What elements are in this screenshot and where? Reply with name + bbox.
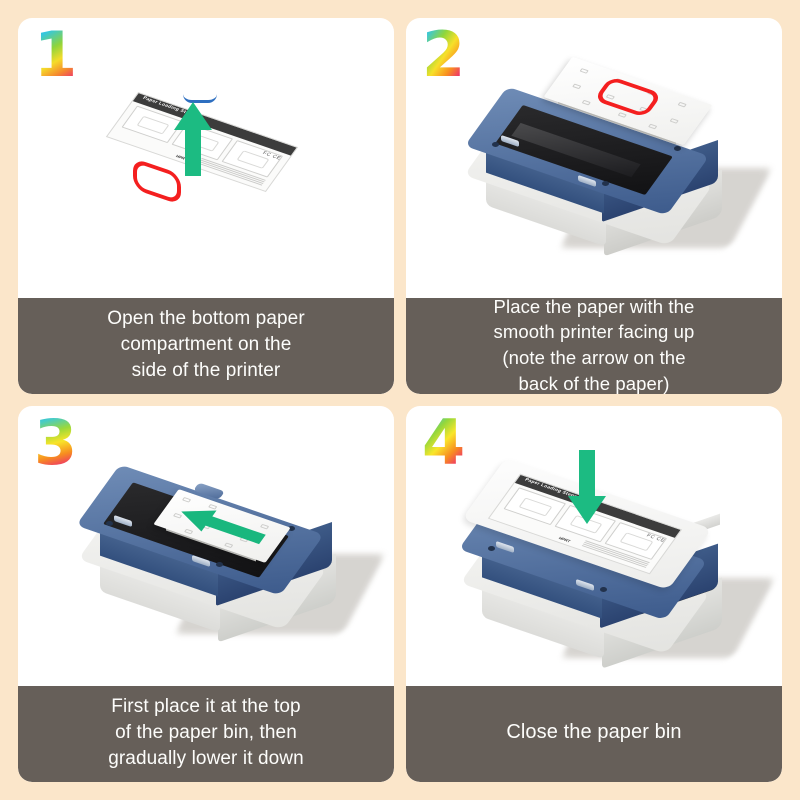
step-4-illustration: 4 [406,406,782,686]
step-3-caption: First place it at the top of the paper b… [18,686,394,782]
tray-screw [602,181,609,186]
tray-screw [492,142,499,147]
tray-screw [216,562,223,567]
tray-screw [674,146,681,151]
step-card-4: 4 [406,406,782,782]
step-card-3: 3 [18,406,394,782]
steps-grid: 1 Paper Loading Steps [0,0,800,800]
step-2-illustration: 2 [406,18,782,298]
arrow-down-icon [564,448,610,526]
step-card-2: 2 [406,18,782,394]
step-2-caption: Place the paper with the smooth printer … [406,298,782,394]
tray-screw [106,521,113,526]
step-card-1: 1 Paper Loading Steps [18,18,394,394]
step-number-4: 4 [422,412,464,474]
step-1-caption: Open the bottom paper compartment on the… [18,298,394,394]
step-number-2: 2 [422,24,464,86]
arrow-up-icon [170,100,216,178]
step-number-1: 1 [34,24,76,86]
step-number-3: 3 [34,412,76,474]
step-3-illustration: 3 [18,406,394,686]
step-4-caption: Close the paper bin [406,686,782,782]
step-1-illustration: 1 Paper Loading Steps [18,18,394,298]
tray-screw [600,587,607,592]
tray-screw [488,546,495,551]
label-brand-text: HPRT [558,535,572,543]
